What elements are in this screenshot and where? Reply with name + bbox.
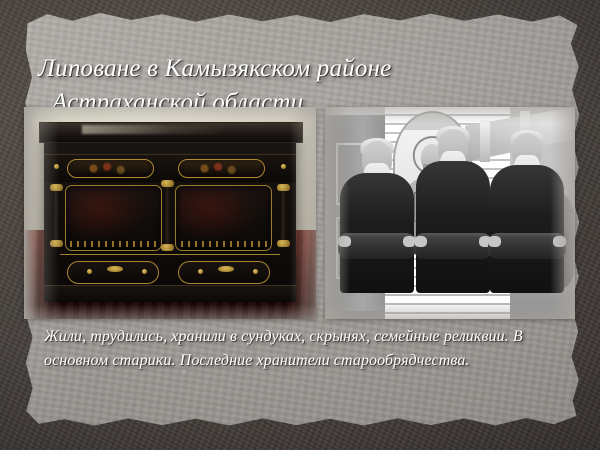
chest-lid-highlight — [82, 125, 228, 134]
chest-pillar-left — [53, 187, 60, 245]
chest-lid — [39, 122, 302, 143]
slide-caption: Жили, трудились, хранили в сундуках, скр… — [44, 325, 554, 373]
slide-title-line-1: Липоване в Камызякском районе — [38, 55, 391, 82]
presentation-slide: Липоване в Камызякском районе Астраханск… — [0, 0, 600, 450]
chest-drawer-knob-4 — [253, 269, 258, 274]
elder-right — [481, 133, 573, 319]
chest-knob-upper-right — [281, 164, 286, 169]
elder-right-hand-right — [553, 236, 566, 247]
chest-door-right — [175, 185, 272, 251]
chest-door-left — [65, 185, 162, 251]
elder-center-hand-left — [414, 236, 427, 247]
chest-gold-strip — [60, 254, 281, 256]
chest-escutcheon-right — [218, 266, 234, 272]
chest-base-band — [44, 285, 295, 302]
chest-scene — [24, 107, 316, 319]
chest-drawer-knob-3 — [198, 269, 203, 274]
elder-right-hand-left — [488, 236, 501, 247]
elder-right-body — [490, 165, 564, 293]
elder-left-hand-left — [338, 236, 351, 247]
chest-pillar-center — [164, 183, 171, 247]
chest-body — [44, 130, 295, 302]
elders-scene — [325, 107, 575, 319]
chest-drawer-knob-1 — [87, 269, 92, 274]
chest-pillar-right — [280, 187, 287, 245]
elder-center-body — [416, 161, 490, 293]
chest-oval-left — [67, 159, 154, 178]
photo-row — [0, 107, 600, 319]
photo-antique-chest — [24, 107, 316, 319]
chest-oval-right — [178, 159, 265, 178]
photo-three-elders — [325, 107, 575, 319]
